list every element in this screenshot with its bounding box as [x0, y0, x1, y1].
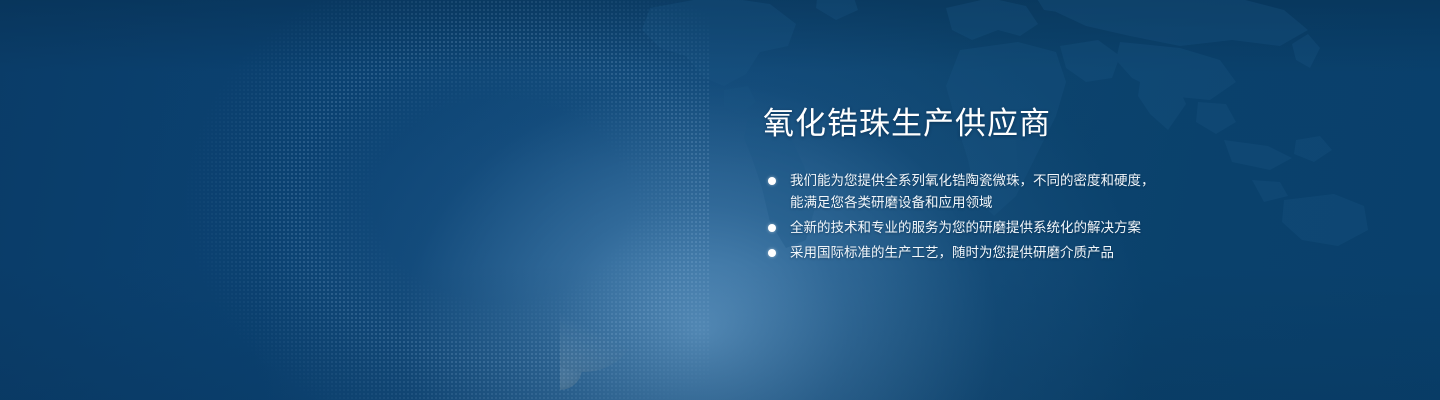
- list-item: 全新的技术和专业的服务为您的研磨提供系统化的解决方案: [763, 217, 1363, 239]
- page-title: 氧化锆珠生产供应商: [763, 104, 1363, 144]
- zirconia-beads-image: [0, 0, 760, 400]
- hero-banner: 氧化锆珠生产供应商 我们能为您提供全系列氧化锆陶瓷微珠，不同的密度和硬度， 能满…: [0, 0, 1440, 400]
- banner-copy: 氧化锆珠生产供应商 我们能为您提供全系列氧化锆陶瓷微珠，不同的密度和硬度， 能满…: [763, 104, 1363, 267]
- list-item-line-2: 能满足您各类研磨设备和应用领域: [790, 192, 1363, 214]
- list-item-line-1: 全新的技术和专业的服务为您的研磨提供系统化的解决方案: [790, 220, 1141, 235]
- list-item-line-1: 我们能为您提供全系列氧化锆陶瓷微珠，不同的密度和硬度，: [790, 173, 1155, 188]
- list-item-line-1: 采用国际标准的生产工艺，随时为您提供研磨介质产品: [790, 245, 1114, 260]
- list-item: 我们能为您提供全系列氧化锆陶瓷微珠，不同的密度和硬度， 能满足您各类研磨设备和应…: [763, 170, 1363, 214]
- bullet-dot-icon: [768, 224, 776, 232]
- bullet-dot-icon: [768, 249, 776, 257]
- list-item: 采用国际标准的生产工艺，随时为您提供研磨介质产品: [763, 242, 1363, 264]
- bullet-dot-icon: [768, 177, 776, 185]
- feature-list: 我们能为您提供全系列氧化锆陶瓷微珠，不同的密度和硬度， 能满足您各类研磨设备和应…: [763, 170, 1363, 264]
